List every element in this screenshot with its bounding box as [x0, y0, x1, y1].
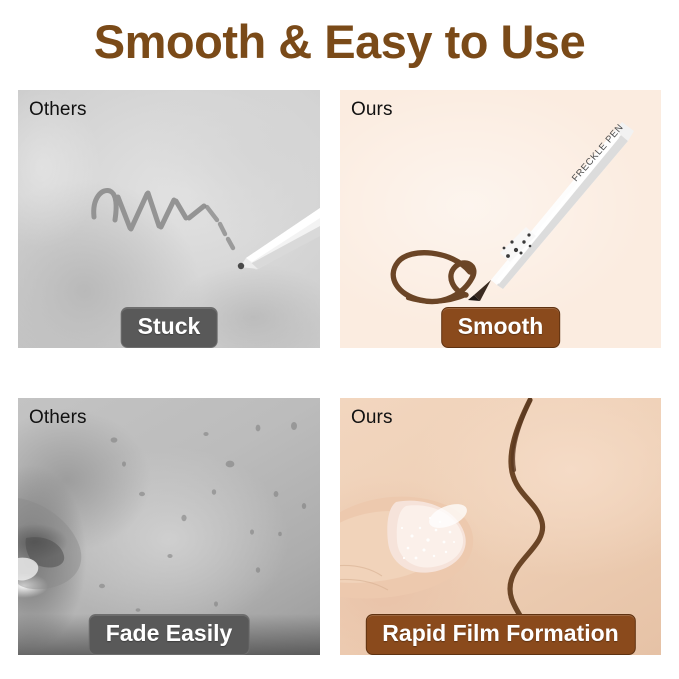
comparison-panel-ours-rapid-film: Ours Rapid Film Formation: [340, 398, 661, 655]
status-badge-fade-easily: Fade Easily: [89, 614, 250, 655]
smooth-stroke-icon: [393, 253, 474, 302]
page-title: Smooth & Easy to Use: [0, 14, 679, 70]
comparison-panel-ours-smooth: FRECKLE PEN Ours Smooth: [340, 90, 661, 348]
scratchy-stroke-icon: [94, 190, 204, 229]
status-badge-smooth: Smooth: [441, 307, 561, 348]
status-badge-stuck: Stuck: [121, 307, 218, 348]
status-badge-rapid-film-formation: Rapid Film Formation: [365, 614, 635, 655]
freckle-spots-icon: [99, 422, 306, 612]
corner-label-others: Others: [29, 407, 87, 429]
comparison-panel-others-fade: Others Fade Easily: [18, 398, 320, 655]
fingertip-icon: [340, 497, 473, 599]
corner-label-ours: Ours: [351, 99, 393, 121]
comparison-panel-others-stuck: Others Stuck: [18, 90, 320, 348]
pen-icon: [238, 208, 320, 270]
corner-label-ours: Ours: [351, 407, 393, 429]
freckle-pen-icon: FRECKLE PEN: [468, 122, 634, 301]
corner-label-others: Others: [29, 99, 87, 121]
